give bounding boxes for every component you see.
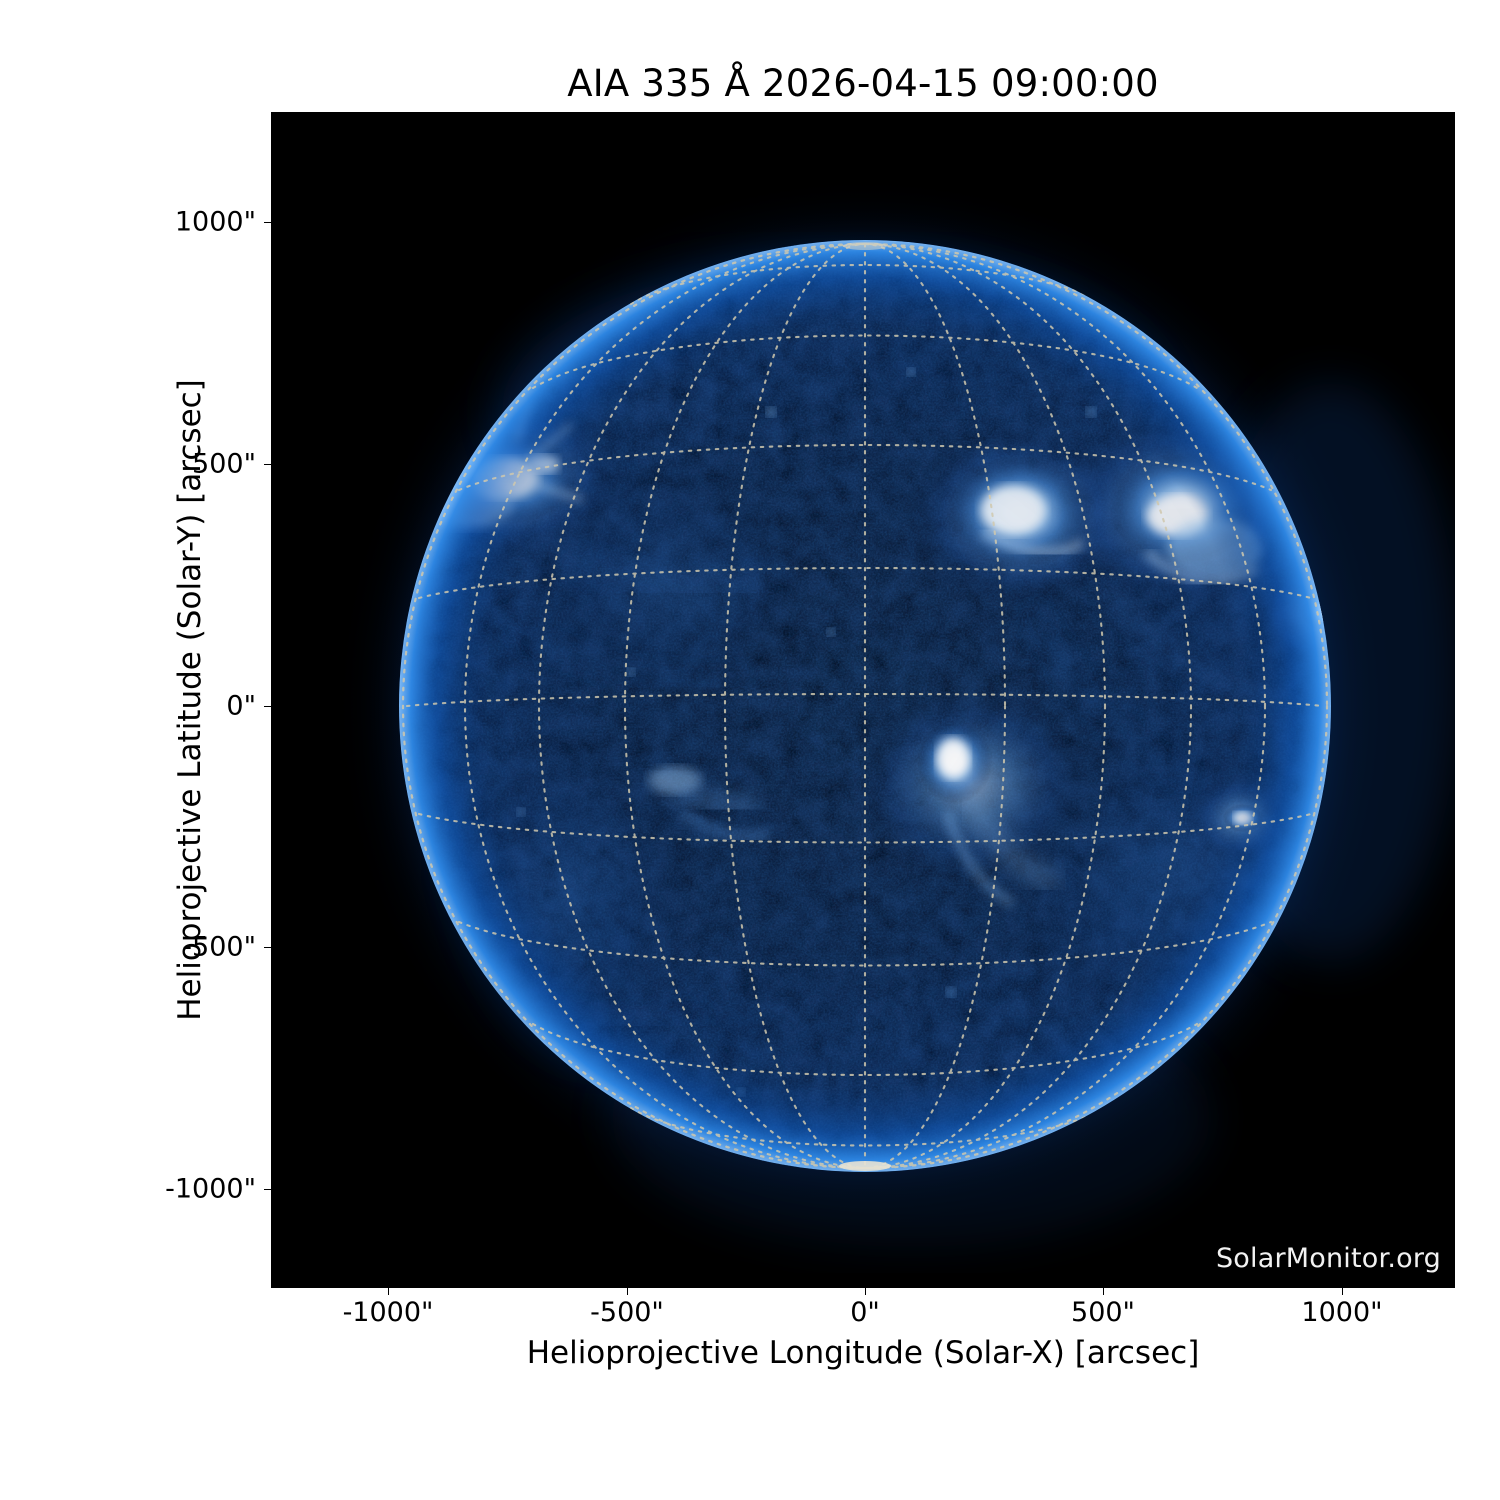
y-tick-label: 0" xyxy=(226,691,256,722)
x-tick-mark xyxy=(1103,1288,1104,1295)
solar-disk-canvas xyxy=(271,112,1455,1288)
x-tick-mark xyxy=(627,1288,628,1295)
solar-disk-image[interactable]: SolarMonitor.org xyxy=(271,112,1455,1288)
x-tick-label: 0" xyxy=(850,1297,880,1328)
y-tick-mark xyxy=(264,706,271,707)
x-tick-label: -500" xyxy=(590,1297,664,1328)
x-tick-mark xyxy=(1342,1288,1343,1295)
x-tick-mark xyxy=(865,1288,866,1295)
watermark: SolarMonitor.org xyxy=(1216,1243,1441,1274)
y-tick-mark xyxy=(264,222,271,223)
page-title: AIA 335 Å 2026-04-15 09:00:00 xyxy=(271,62,1455,105)
x-tick-mark xyxy=(388,1288,389,1295)
x-tick-label: -1000" xyxy=(343,1297,434,1328)
y-tick-mark xyxy=(264,464,271,465)
y-tick-mark xyxy=(264,947,271,948)
y-tick-mark xyxy=(264,1189,271,1190)
x-axis-label: Helioprojective Longitude (Solar-X) [arc… xyxy=(271,1335,1455,1371)
solar-image-figure: AIA 335 Å 2026-04-15 09:00:00 xyxy=(0,0,1500,1500)
x-tick-label: 1000" xyxy=(1301,1297,1382,1328)
y-axis-label: Helioprojective Latitude (Solar-Y) [arcs… xyxy=(172,112,208,1288)
x-tick-label: 500" xyxy=(1071,1297,1135,1328)
